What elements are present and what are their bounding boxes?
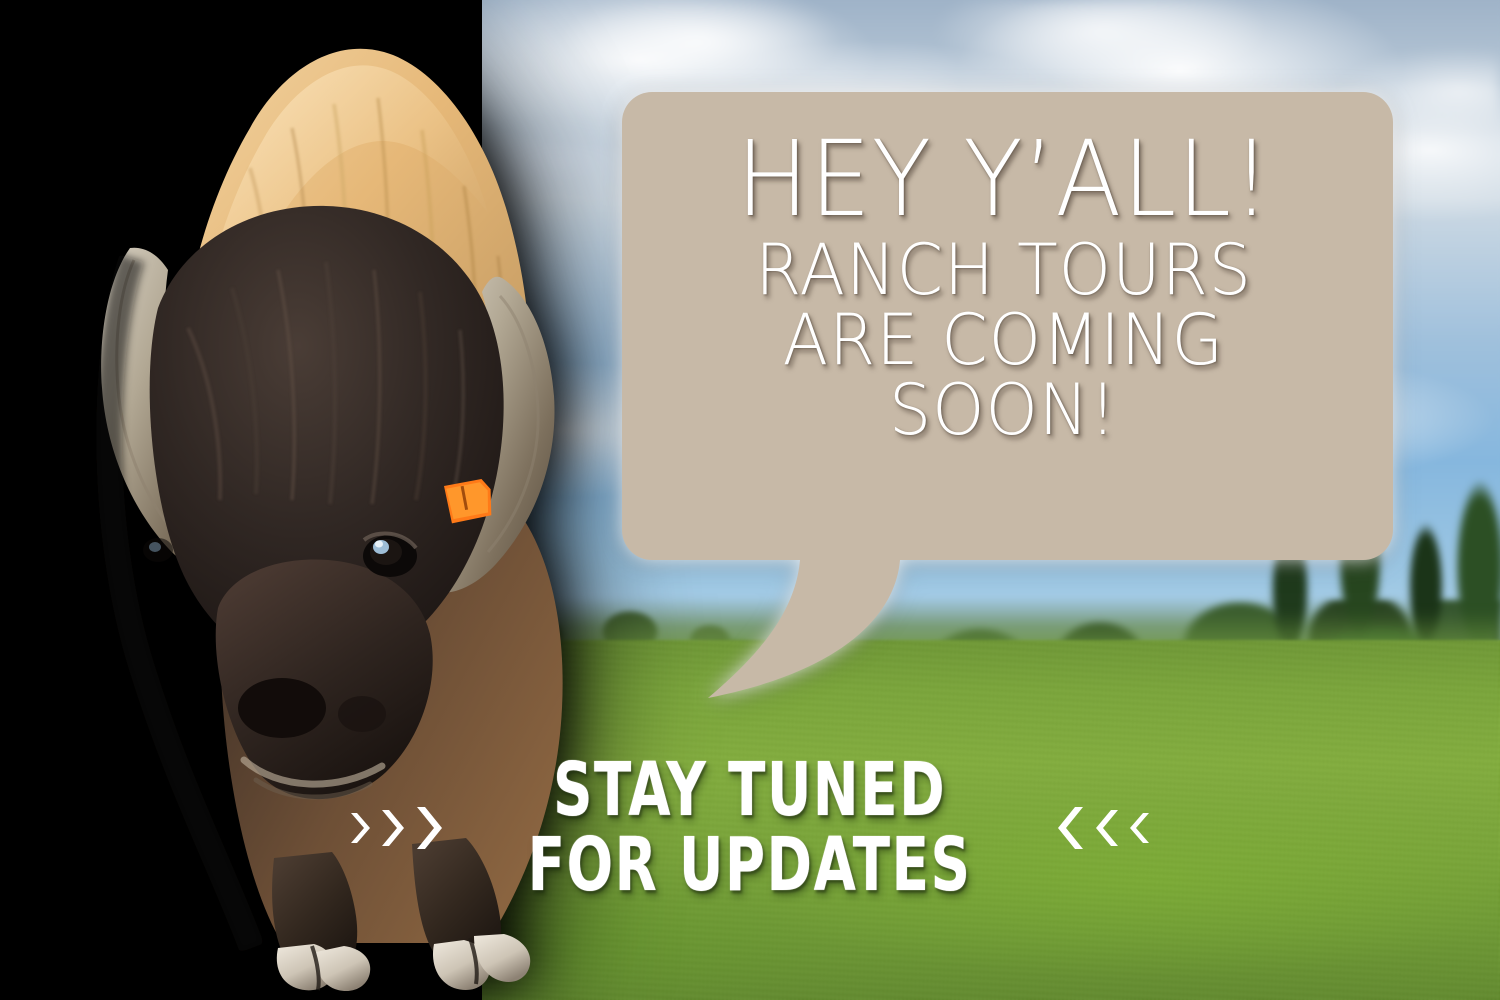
chevron-right-triple-icon <box>347 800 443 856</box>
banner-text-block: STAY TUNED FOR UPDATES <box>528 753 972 904</box>
bison-eye-left <box>143 538 173 562</box>
bubble-line-1: RANCH TOURS <box>755 234 1252 306</box>
chevron-left-triple-icon <box>1057 800 1153 856</box>
speech-bubble-text: HEY Y’ALL! RANCH TOURS ARE COMING SOON! <box>622 92 1385 560</box>
poster-canvas: HEY Y’ALL! RANCH TOURS ARE COMING SOON! … <box>0 0 1500 1000</box>
bubble-line-3: SOON! <box>889 374 1117 446</box>
bubble-line-2: ARE COMING <box>783 304 1224 376</box>
stay-tuned-banner: STAY TUNED FOR UPDATES <box>0 718 1500 938</box>
bubble-headline: HEY Y’ALL! <box>736 130 1272 230</box>
banner-line-1: STAY TUNED <box>553 753 946 828</box>
banner-line-2: FOR UPDATES <box>528 828 972 903</box>
